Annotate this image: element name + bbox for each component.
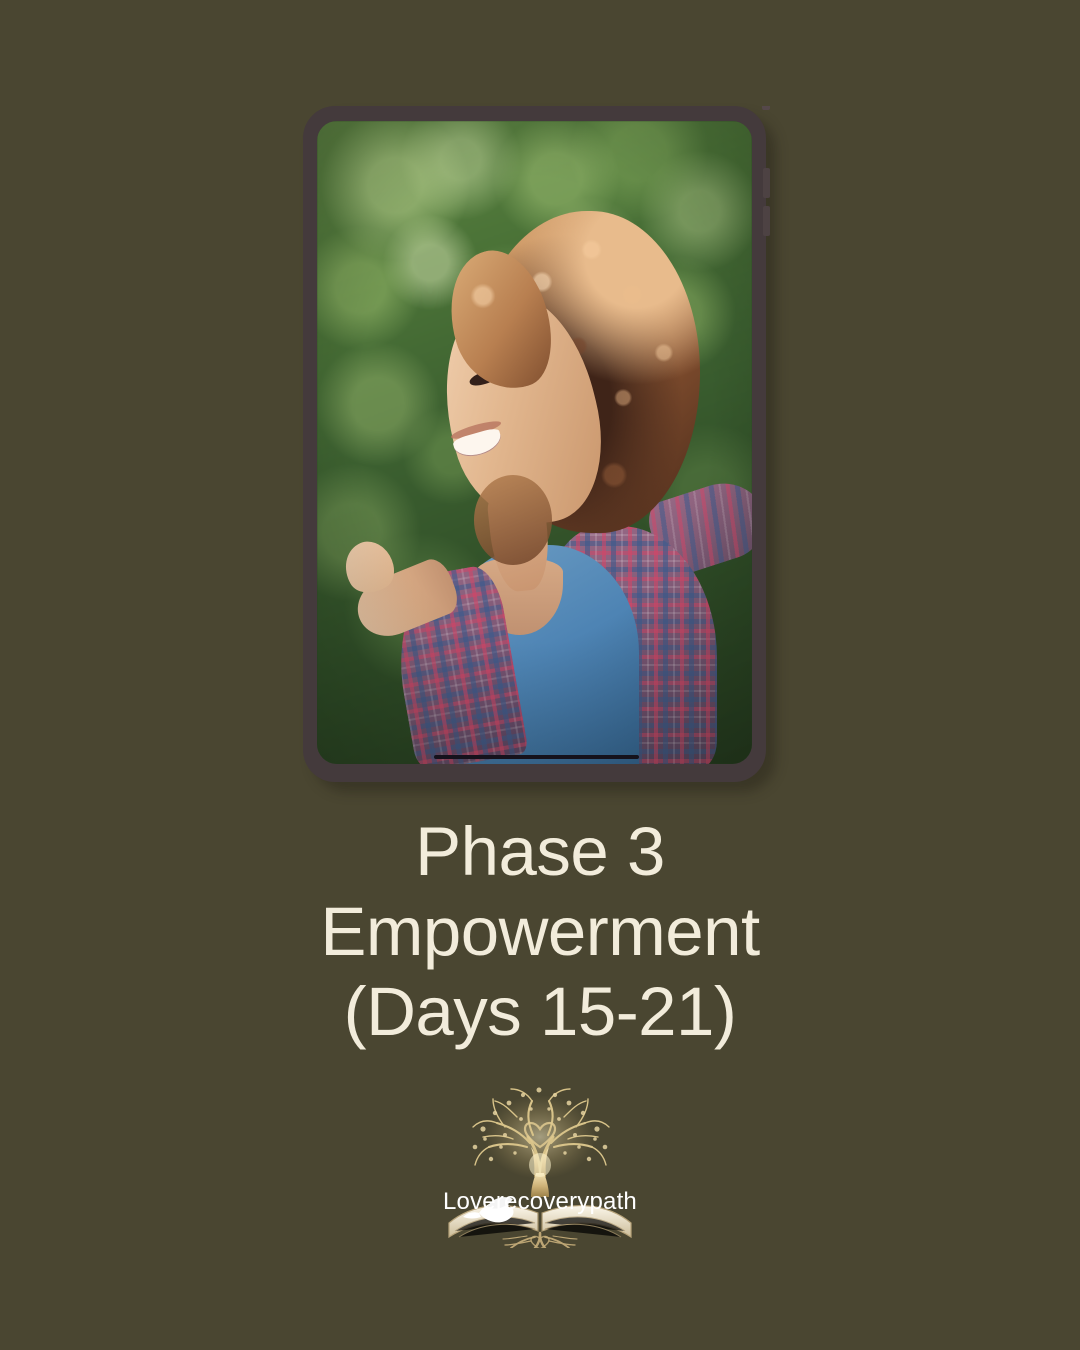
tree-of-life-book-icon [435, 1073, 645, 1248]
headline-line-1: Phase 3 [0, 812, 1080, 892]
headline-line-2: Empowerment [0, 892, 1080, 972]
power-button-icon[interactable] [762, 106, 770, 110]
device-screen [317, 121, 752, 764]
volume-up-button-icon[interactable] [763, 168, 770, 198]
photo-vignette [317, 121, 752, 764]
device-mockup [303, 106, 766, 782]
page-title: Phase 3 Empowerment (Days 15-21) [0, 812, 1080, 1052]
headline-line-3: (Days 15-21) [0, 972, 1080, 1052]
brand-name: Loverecoverypath [435, 1188, 645, 1216]
home-indicator-bar[interactable] [434, 755, 638, 759]
device-frame [303, 106, 766, 782]
poster-canvas: Phase 3 Empowerment (Days 15-21) [0, 0, 1080, 1350]
brand-logo: Loverecoverypath [435, 1073, 645, 1248]
volume-down-button-icon[interactable] [763, 206, 770, 236]
